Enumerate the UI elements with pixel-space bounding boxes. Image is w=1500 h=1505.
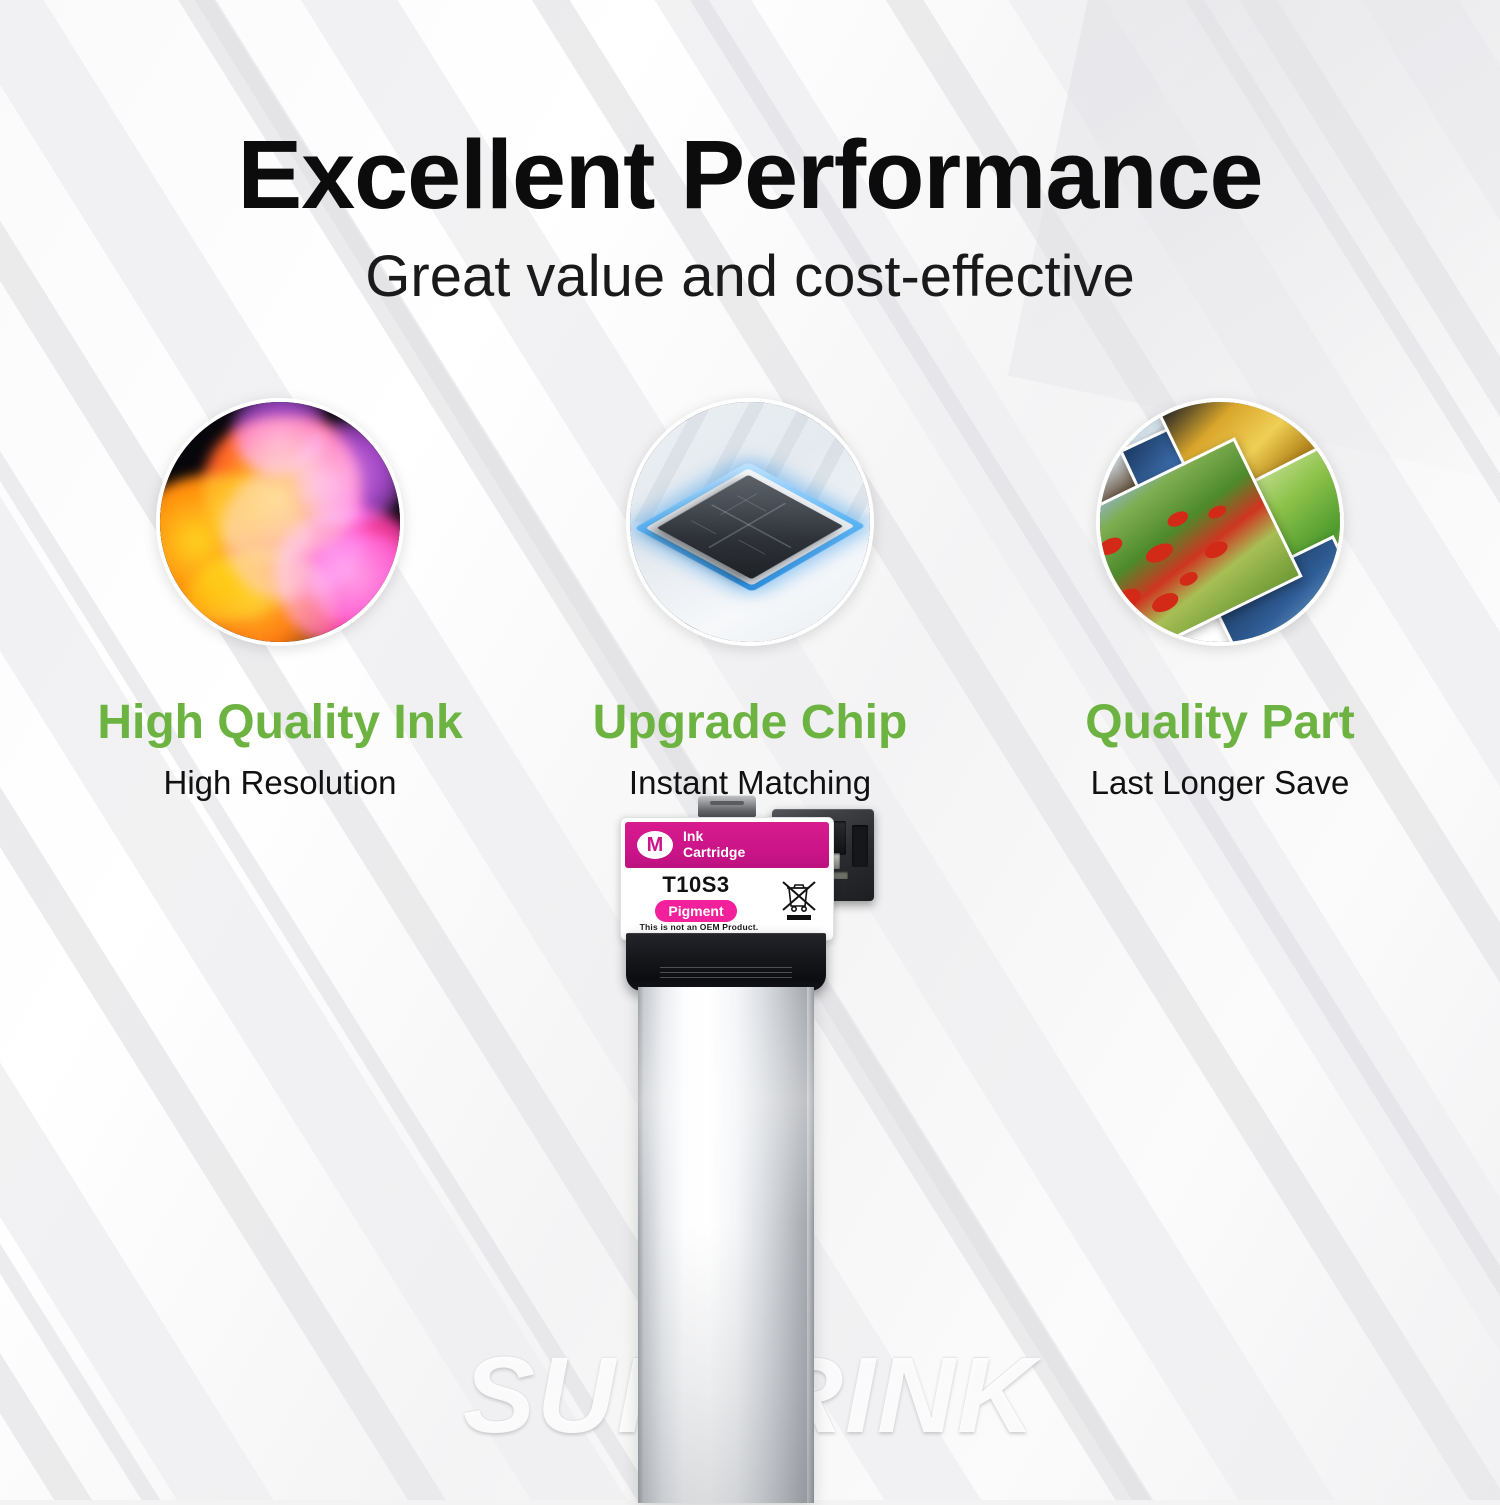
cartridge-body xyxy=(638,987,814,1503)
cartridge-top-cap xyxy=(698,795,756,817)
header: Excellent Performance Great value and co… xyxy=(0,126,1500,308)
connector-slot-right xyxy=(852,825,868,867)
ink-type-badge: Pigment xyxy=(655,900,736,922)
product-image-ink-cartridge: M Ink Cartridge T10S3 Pigment This is no… xyxy=(600,795,900,1505)
page-subtitle: Great value and cost-effective xyxy=(0,247,1500,308)
feature-item-high-quality-ink: High Quality Ink High Resolution xyxy=(45,398,515,801)
label-band-line1: Ink xyxy=(683,829,745,845)
color-letter: M xyxy=(647,835,664,855)
feature-image-upgrade-chip xyxy=(626,398,874,646)
label-band-text: Ink Cartridge xyxy=(683,829,745,860)
cartridge-collar xyxy=(626,933,826,991)
cartridge-body-right-edge xyxy=(807,987,814,1503)
cartridge-cap-slot xyxy=(710,801,744,805)
ink-swirl-icon xyxy=(160,402,400,642)
microchip-icon xyxy=(630,402,870,642)
ink-type-wrap: Pigment xyxy=(625,900,767,922)
product-sku: T10S3 xyxy=(625,874,767,896)
feature-item-quality-part: Quality Part Last Longer Save xyxy=(985,398,1455,801)
label-color-band: M Ink Cartridge xyxy=(625,822,829,868)
feature-title: Upgrade Chip xyxy=(515,698,985,748)
label-band-line2: Cartridge xyxy=(683,845,745,861)
feature-image-high-quality-ink xyxy=(156,398,404,646)
feature-item-upgrade-chip: Upgrade Chip Instant Matching xyxy=(515,398,985,801)
cartridge-body-left-edge xyxy=(638,987,645,1503)
feature-list: High Quality Ink High Resolution xyxy=(0,398,1500,801)
feature-title: Quality Part xyxy=(985,698,1455,748)
label-body: T10S3 Pigment This is not an OEM Product… xyxy=(625,870,829,936)
oem-disclaimer: This is not an OEM Product. xyxy=(625,922,773,932)
page-title: Excellent Performance xyxy=(0,126,1500,225)
cartridge-label: M Ink Cartridge T10S3 Pigment This is no… xyxy=(620,817,834,941)
feature-title: High Quality Ink xyxy=(45,698,515,748)
feature-subtitle: Last Longer Save xyxy=(985,766,1455,801)
photo-collage-icon xyxy=(1100,402,1340,642)
color-letter-badge: M xyxy=(637,831,673,859)
crossed-out-wheelie-bin-icon xyxy=(779,876,819,924)
feature-image-quality-part xyxy=(1096,398,1344,646)
feature-subtitle: High Resolution xyxy=(45,766,515,801)
